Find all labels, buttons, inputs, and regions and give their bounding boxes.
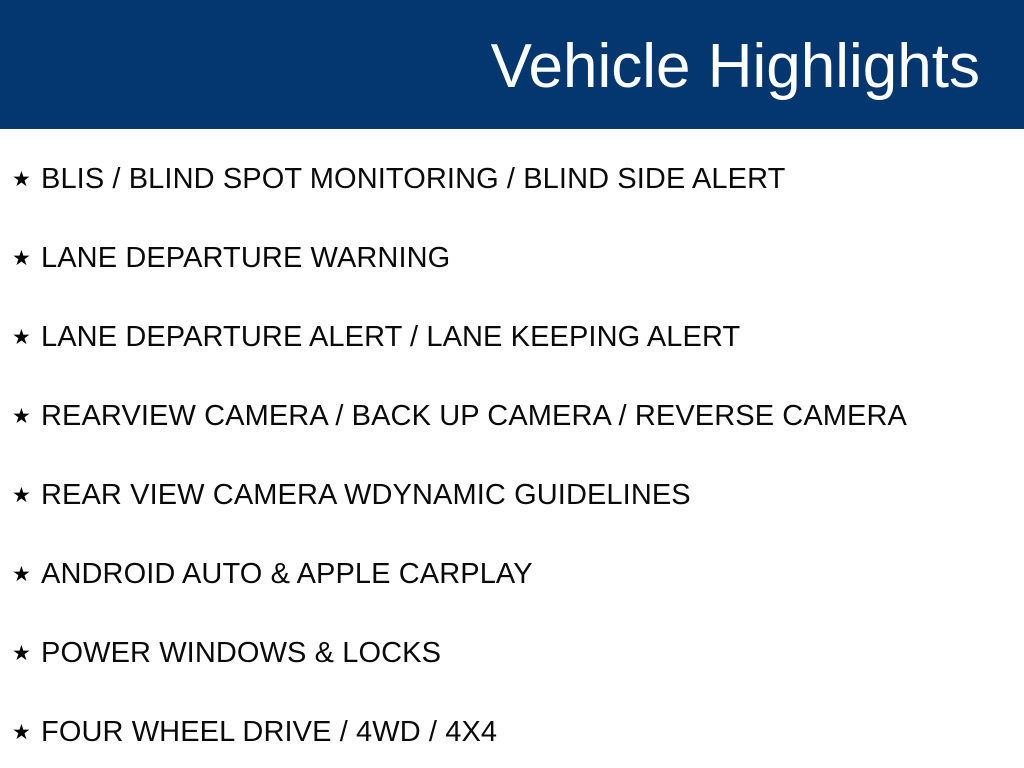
list-item: ★REARVIEW CAMERA / BACK UP CAMERA / REVE…: [12, 399, 907, 435]
list-item-label: ANDROID AUTO & APPLE CARPLAY: [41, 558, 533, 591]
header-banner: Vehicle Highlights: [0, 0, 1024, 129]
list-item: ★LANE DEPARTURE ALERT / LANE KEEPING ALE…: [12, 320, 740, 356]
star-bullet-icon: ★: [12, 169, 41, 190]
list-item-label: FOUR WHEEL DRIVE / 4WD / 4X4: [41, 716, 497, 749]
vehicle-highlights-slide: Vehicle Highlights ★BLIS / BLIND SPOT MO…: [0, 0, 1024, 768]
star-bullet-icon: ★: [12, 327, 41, 348]
list-item: ★BLIS / BLIND SPOT MONITORING / BLIND SI…: [12, 162, 785, 198]
page-title: Vehicle Highlights: [491, 34, 980, 99]
star-bullet-icon: ★: [12, 722, 41, 743]
list-item-label: LANE DEPARTURE ALERT / LANE KEEPING ALER…: [41, 321, 740, 354]
list-item-label: LANE DEPARTURE WARNING: [41, 242, 450, 275]
list-item: ★ANDROID AUTO & APPLE CARPLAY: [12, 557, 533, 593]
list-item-label: BLIS / BLIND SPOT MONITORING / BLIND SID…: [41, 163, 785, 196]
list-item-label: POWER WINDOWS & LOCKS: [41, 637, 441, 670]
list-item: ★REAR VIEW CAMERA WDYNAMIC GUIDELINES: [12, 478, 691, 514]
star-bullet-icon: ★: [12, 643, 41, 664]
list-item-label: REARVIEW CAMERA / BACK UP CAMERA / REVER…: [41, 400, 907, 433]
star-bullet-icon: ★: [12, 248, 41, 269]
list-item-label: REAR VIEW CAMERA WDYNAMIC GUIDELINES: [41, 479, 691, 512]
list-item: ★FOUR WHEEL DRIVE / 4WD / 4X4: [12, 715, 497, 751]
star-bullet-icon: ★: [12, 485, 41, 506]
list-item: ★LANE DEPARTURE WARNING: [12, 241, 450, 277]
vehicle-highlights-list: ★BLIS / BLIND SPOT MONITORING / BLIND SI…: [0, 129, 1024, 768]
list-item: ★POWER WINDOWS & LOCKS: [12, 636, 441, 672]
star-bullet-icon: ★: [12, 406, 41, 427]
star-bullet-icon: ★: [12, 564, 41, 585]
